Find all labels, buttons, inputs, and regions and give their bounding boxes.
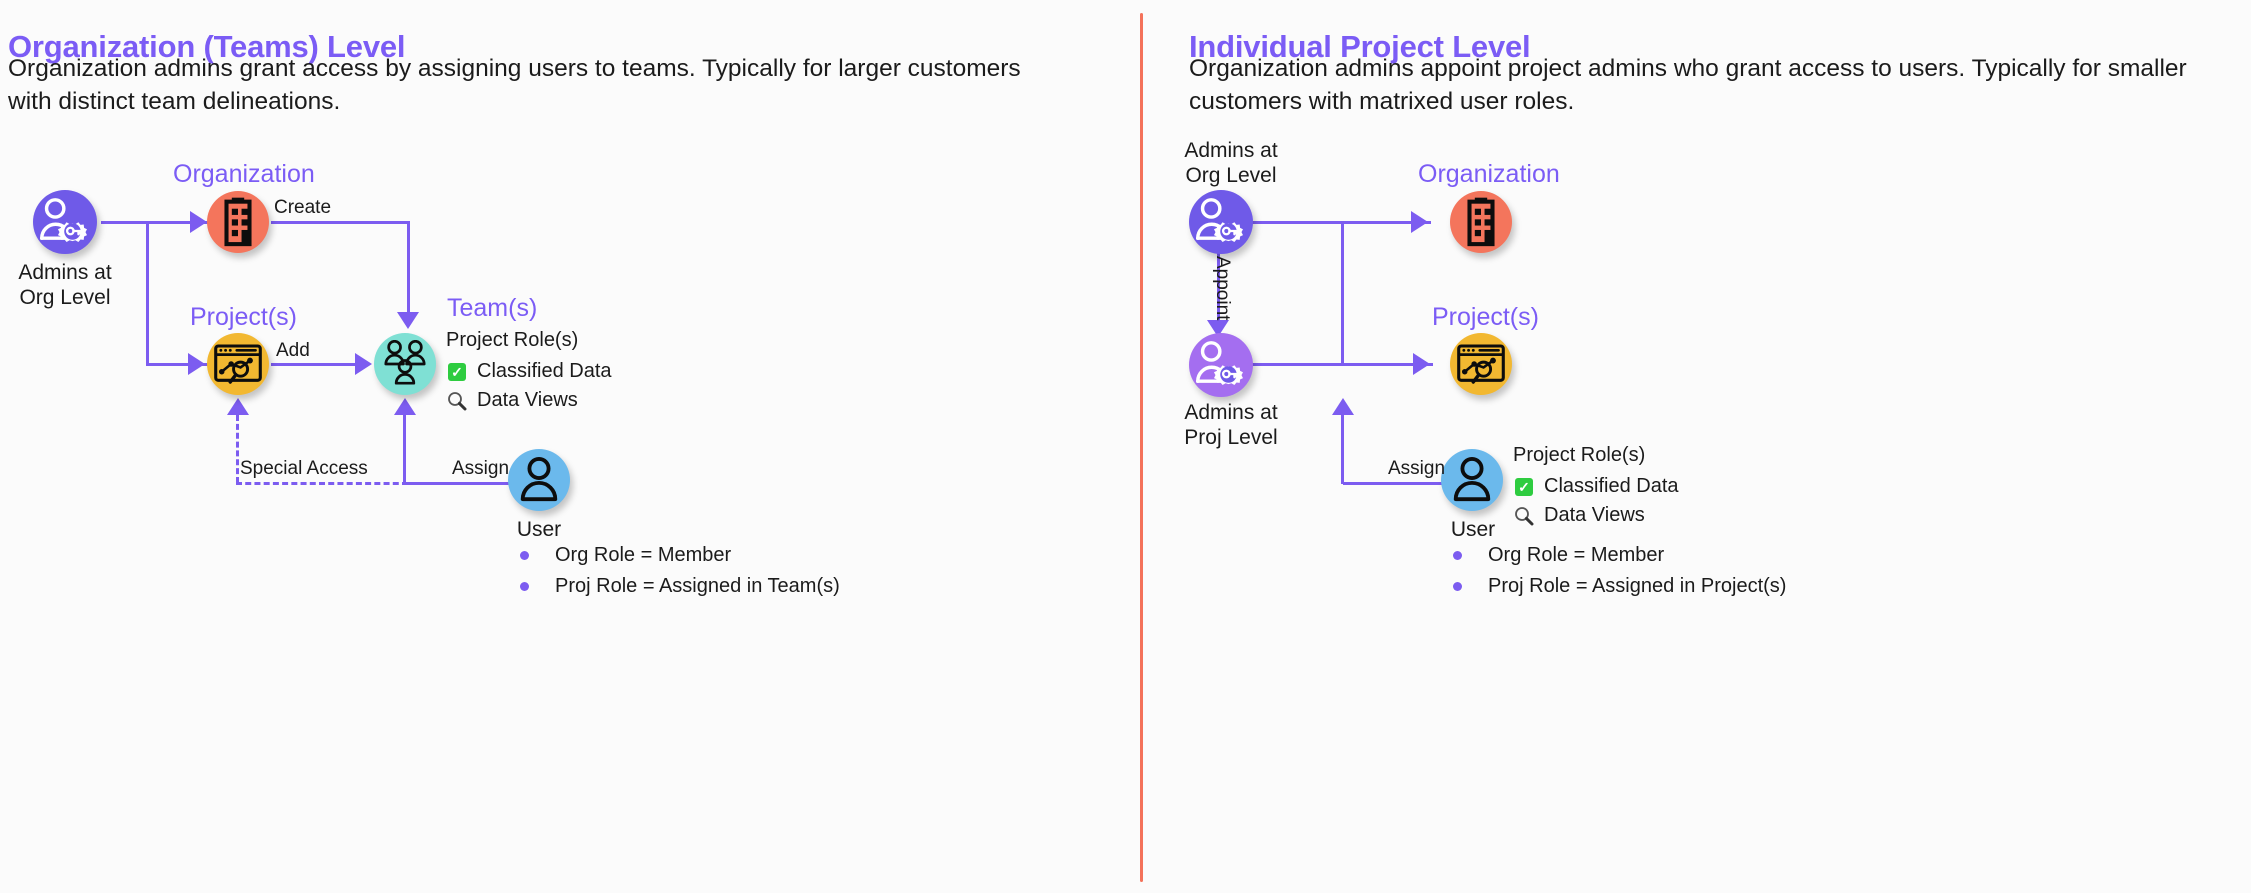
edge-admin-org-to-org-arrowhead [1411, 211, 1428, 233]
panel-individual-project-level: Individual Project Level Organization ad… [1141, 0, 2251, 893]
magnifier-icon [1513, 505, 1535, 527]
edge-admin-down-line [146, 221, 149, 365]
edge-admin-proj-to-project-line [1251, 363, 1433, 366]
project-roles-panel: Project Role(s) ✓ Classified Data Data V… [1513, 444, 1679, 527]
edge-user-to-project-line-v [1341, 414, 1344, 484]
node-title-organization: Organization [1418, 160, 1560, 189]
role-item-classified-data: ✓ Classified Data [446, 360, 612, 383]
edge-special-access-line-v [236, 415, 239, 483]
node-user[interactable] [508, 449, 570, 511]
role-item-data-views: Data Views [446, 389, 612, 412]
role-item-classified-data: ✓ Classified Data [1513, 475, 1679, 498]
node-projects[interactable] [207, 333, 269, 395]
office-building-icon [1458, 197, 1504, 247]
user-bullet-label: Proj Role = Assigned in Team(s) [555, 575, 840, 598]
diagram-page: Organization (Teams) Level Organization … [0, 0, 2251, 893]
office-building-icon [215, 197, 261, 247]
user-bullet-item: Org Role = Member [1453, 544, 1786, 567]
single-person-icon [1450, 457, 1494, 503]
edge-label-assign: Assign [1388, 458, 1445, 480]
node-title-organization: Organization [173, 160, 315, 189]
user-bullet-item: Proj Role = Assigned in Project(s) [1453, 575, 1786, 598]
project-roles-panel: Project Role(s) ✓ Classified Data Data V… [446, 329, 612, 412]
role-item-data-views: Data Views [1513, 504, 1679, 527]
user-bullet-item: Org Role = Member [520, 544, 840, 567]
node-admins-at-proj-level[interactable] [1189, 333, 1253, 397]
node-organization[interactable] [207, 191, 269, 253]
project-roles-title: Project Role(s) [1513, 444, 1679, 467]
edge-label-special-access: Special Access [240, 458, 368, 480]
green-check-icon: ✓ [446, 361, 468, 383]
edge-label-appoint: Appoint [1211, 256, 1233, 320]
node-teams[interactable] [374, 333, 436, 395]
node-title-projects: Project(s) [1432, 303, 1539, 332]
bullet-dot-icon [520, 582, 529, 591]
node-label-admins-at-org-level: Admins at Org Level [0, 260, 136, 310]
project-dashboard-search-icon [1457, 342, 1505, 386]
node-title-teams: Team(s) [447, 294, 537, 323]
edge-user-to-team-line-h [407, 482, 510, 485]
node-admins-at-org-level[interactable] [1189, 190, 1253, 254]
role-item-label: Classified Data [477, 360, 612, 383]
admin-user-gear-key-icon [35, 192, 95, 252]
green-check-icon: ✓ [1513, 476, 1535, 498]
project-roles-title: Project Role(s) [446, 329, 612, 352]
project-dashboard-search-icon [214, 342, 262, 386]
panel-description: Organization admins appoint project admi… [1189, 52, 2229, 118]
role-item-label: Data Views [1544, 504, 1645, 527]
node-label-admins-at-proj-level: Admins at Proj Level [1131, 400, 1331, 450]
role-item-label: Classified Data [1544, 475, 1679, 498]
edge-label-create: Create [274, 197, 331, 219]
edge-admin-to-org-arrowhead [190, 211, 207, 233]
group-people-icon [382, 340, 428, 388]
node-label-admins-at-org-level: Admins at Org Level [1131, 138, 1331, 188]
edge-admin-proj-to-project-arrowhead [1413, 353, 1430, 375]
admin-user-gear-key-icon [1191, 192, 1251, 252]
edge-special-access-arrowhead [227, 398, 249, 415]
user-bullet-item: Proj Role = Assigned in Team(s) [520, 575, 840, 598]
node-admins-at-org-level[interactable] [33, 190, 97, 254]
user-bullet-label: Proj Role = Assigned in Project(s) [1488, 575, 1786, 598]
edge-label-add: Add [276, 340, 310, 362]
edge-project-to-team-arrowhead [355, 353, 372, 375]
edge-org-to-team-arrowhead [397, 312, 419, 329]
edge-org-to-team-line-v [407, 221, 410, 320]
panel-description: Organization admins grant access by assi… [8, 52, 1068, 118]
bullet-dot-icon [1453, 582, 1462, 591]
bullet-dot-icon [1453, 551, 1462, 560]
edge-user-to-team-line-v [403, 414, 406, 484]
edge-project-to-team-line [271, 363, 363, 366]
user-bullet-label: Org Role = Member [555, 544, 731, 567]
edge-user-to-team-arrowhead [394, 398, 416, 415]
node-title-projects: Project(s) [190, 303, 297, 332]
single-person-icon [517, 457, 561, 503]
role-item-label: Data Views [477, 389, 578, 412]
panel-organization-teams-level: Organization (Teams) Level Organization … [0, 0, 1141, 893]
edge-admin-to-project-arrowhead [188, 353, 205, 375]
user-bullets: Org Role = Member Proj Role = Assigned i… [1453, 536, 1786, 598]
edge-user-to-project-line-h [1343, 482, 1442, 485]
user-bullet-label: Org Role = Member [1488, 544, 1664, 567]
edge-label-assign: Assign [452, 458, 509, 480]
user-bullets: Org Role = Member Proj Role = Assigned i… [520, 536, 840, 598]
node-organization[interactable] [1450, 191, 1512, 253]
edge-special-access-line-h [236, 482, 408, 485]
node-user[interactable] [1441, 449, 1503, 511]
node-projects[interactable] [1450, 333, 1512, 395]
admin-user-gear-key-icon [1191, 335, 1251, 395]
magnifier-icon [446, 390, 468, 412]
bullet-dot-icon [520, 551, 529, 560]
edge-trunk-line [1341, 221, 1344, 365]
edge-user-to-project-arrowhead [1332, 398, 1354, 415]
edge-org-to-team-line-h [271, 221, 410, 224]
